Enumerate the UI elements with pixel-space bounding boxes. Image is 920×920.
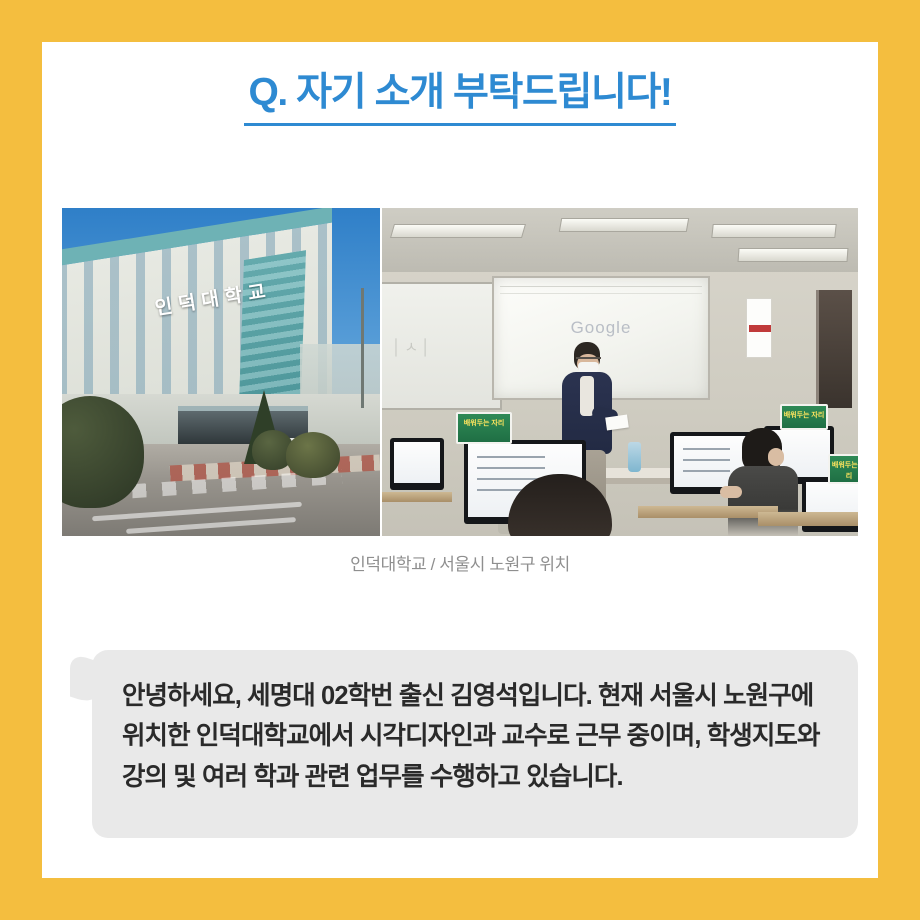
whiteboard-writing: │ㅅ│ (392, 336, 434, 357)
photo-caption: 인덕대학교 / 서울시 노원구 위치 (42, 550, 878, 575)
lamp-pole (361, 288, 364, 408)
ceiling-light-1 (390, 224, 526, 238)
answer-bubble-container: 안녕하세요, 세명대 02학번 출신 김영석입니다. 현재 서울시 노원구에 위… (70, 620, 858, 838)
ceiling-light-4 (738, 248, 849, 262)
content-card: Q. 자기 소개 부탁드립니다! 인덕대학교 (42, 42, 878, 878)
headline-container: Q. 자기 소개 부탁드립니다! (42, 70, 878, 126)
spreadsheet-rows (683, 448, 730, 472)
photo-classroom-lecture: │ㅅ│ Google (382, 208, 858, 536)
student-face (768, 448, 784, 466)
classroom-door (816, 290, 852, 408)
photo-university-exterior: 인덕대학교 (62, 208, 380, 536)
wall-notice-poster (746, 298, 772, 358)
monitor-far-left (390, 438, 444, 490)
ceiling-light-2 (559, 218, 689, 232)
desk-green-sign-right: 배워두는 자리 (780, 404, 828, 430)
monitor-screen (394, 442, 440, 483)
shrub-c (286, 432, 340, 478)
desk-surface-center (638, 506, 778, 518)
photo-strip: 인덕대학교 (62, 208, 858, 536)
water-bottle (628, 442, 641, 472)
page-title: Q. 자기 소개 부탁드립니다! (244, 70, 675, 126)
ceiling-light-3 (711, 224, 836, 238)
student-hand (720, 486, 742, 498)
projected-google-logo: Google (571, 318, 632, 338)
desk-surface-right (758, 512, 858, 526)
answer-bubble: 안녕하세요, 세명대 02학번 출신 김영석입니다. 현재 서울시 노원구에 위… (92, 650, 858, 838)
browser-toolbar-line (500, 286, 702, 294)
desk-surface-left (382, 492, 452, 502)
answer-text: 안녕하세요, 세명대 02학번 출신 김영석입니다. 현재 서울시 노원구에 위… (122, 676, 828, 797)
whiteboard: │ㅅ│ (382, 282, 502, 410)
desk-green-sign-far-right: 배워두는 자리 (828, 454, 858, 484)
desk-green-sign-left: 배워두는 자리 (456, 412, 512, 444)
yellow-frame: Q. 자기 소개 부탁드립니다! 인덕대학교 (0, 0, 920, 920)
